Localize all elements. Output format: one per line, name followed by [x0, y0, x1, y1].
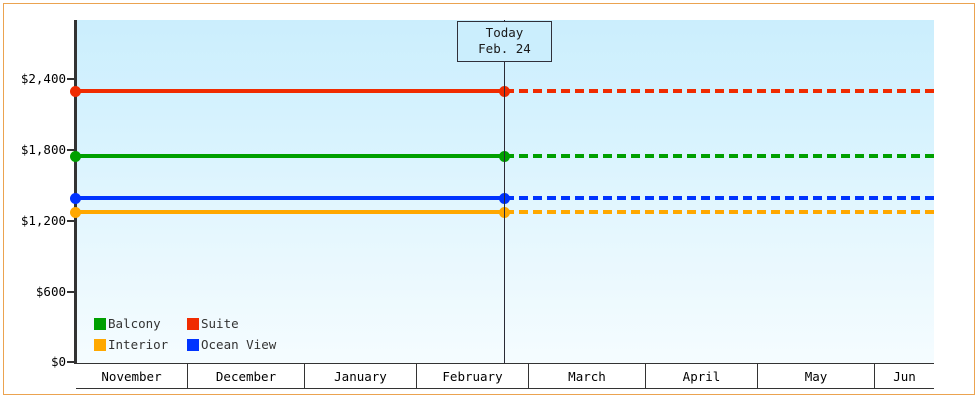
- x-axis-month-jun[interactable]: Jun: [875, 364, 934, 388]
- today-vertical-line: [504, 20, 505, 363]
- legend-item-balcony[interactable]: Balcony: [94, 316, 187, 331]
- today-callout-line2: Feb. 24: [466, 41, 543, 57]
- y-axis-spine: [74, 20, 77, 364]
- today-callout-line1: Today: [466, 25, 543, 41]
- y-axis-label-600: $600: [4, 284, 66, 299]
- legend-row-1: Balcony Suite: [94, 313, 276, 334]
- legend-label-suite: Suite: [201, 316, 239, 331]
- series-line-ocean-view-actual: [74, 196, 505, 200]
- series-line-suite-forecast: [505, 89, 934, 93]
- y-tick-600: [67, 291, 75, 293]
- x-axis-month-february[interactable]: February: [417, 364, 529, 388]
- legend-item-interior[interactable]: Interior: [94, 337, 187, 352]
- legend-item-ocean-view[interactable]: Ocean View: [187, 337, 276, 352]
- y-tick-1200: [67, 220, 75, 222]
- x-axis-month-may[interactable]: May: [758, 364, 875, 388]
- legend-label-ocean-view: Ocean View: [201, 337, 276, 352]
- y-axis-label-1200: $1,200: [4, 213, 66, 228]
- x-axis-month-january[interactable]: January: [305, 364, 417, 388]
- series-line-balcony-forecast: [505, 154, 934, 158]
- x-axis-month-strip: November December January February March…: [76, 363, 934, 389]
- x-axis-month-april[interactable]: April: [646, 364, 758, 388]
- y-axis-labels: $2,400 $1,800 $1,200 $600 $0: [4, 4, 66, 404]
- y-tick-0: [67, 361, 75, 363]
- x-axis-month-december[interactable]: December: [188, 364, 305, 388]
- y-axis-label-2400: $2,400: [4, 71, 66, 86]
- plot-area: [76, 20, 934, 363]
- legend-label-balcony: Balcony: [108, 316, 161, 331]
- legend-swatch-suite-icon: [187, 318, 199, 330]
- series-line-interior-forecast: [505, 210, 934, 214]
- legend-row-2: Interior Ocean View: [94, 334, 276, 355]
- series-line-ocean-view-forecast: [505, 196, 934, 200]
- series-marker-balcony-start: [70, 151, 81, 162]
- series-marker-suite-start: [70, 86, 81, 97]
- legend-item-suite[interactable]: Suite: [187, 316, 239, 331]
- legend-swatch-balcony-icon: [94, 318, 106, 330]
- x-axis-month-march[interactable]: March: [529, 364, 646, 388]
- y-tick-2400: [67, 78, 75, 80]
- chart-frame: $2,400 $1,800 $1,200 $600 $0 Today Feb. …: [3, 3, 975, 395]
- legend-swatch-ocean-view-icon: [187, 339, 199, 351]
- today-callout[interactable]: Today Feb. 24: [457, 21, 552, 62]
- legend-swatch-interior-icon: [94, 339, 106, 351]
- chart-legend: Balcony Suite Interior Ocean View: [94, 313, 276, 355]
- series-marker-interior-start: [70, 207, 81, 218]
- series-line-balcony-actual: [74, 154, 505, 158]
- y-axis-label-0: $0: [4, 354, 66, 369]
- series-marker-ocean-view-start: [70, 193, 81, 204]
- series-line-suite-actual: [74, 89, 505, 93]
- legend-label-interior: Interior: [108, 337, 168, 352]
- y-axis-label-1800: $1,800: [4, 142, 66, 157]
- x-axis-month-november[interactable]: November: [76, 364, 188, 388]
- series-line-interior-actual: [74, 210, 505, 214]
